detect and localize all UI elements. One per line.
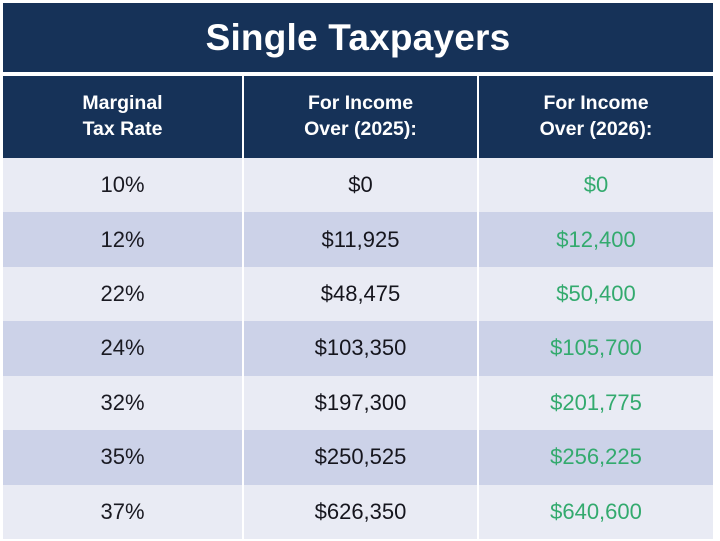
table-row: 12% $11,925 $12,400 <box>3 212 713 266</box>
cell-tax-rate: 35% <box>3 430 242 484</box>
column-header-line2: Over (2025): <box>304 117 417 143</box>
cell-income-2025: $250,525 <box>244 430 477 484</box>
cell-tax-rate: 37% <box>3 485 242 539</box>
cell-income-2026: $256,225 <box>479 430 713 484</box>
column-header-marginal-tax-rate: Marginal Tax Rate <box>3 76 242 158</box>
cell-tax-rate: 10% <box>3 158 242 212</box>
cell-income-2025: $48,475 <box>244 267 477 321</box>
cell-income-2025: $626,350 <box>244 485 477 539</box>
column-header-line2: Over (2026): <box>540 117 653 143</box>
column-header-line1: Marginal <box>82 91 162 117</box>
table-row: 32% $197,300 $201,775 <box>3 376 713 430</box>
cell-income-2026: $105,700 <box>479 321 713 375</box>
table-row: 10% $0 $0 <box>3 158 713 212</box>
table-column-header-row: Marginal Tax Rate For Income Over (2025)… <box>3 76 713 158</box>
cell-income-2026: $0 <box>479 158 713 212</box>
column-header-line1: For Income <box>304 91 417 117</box>
column-header-line1: For Income <box>540 91 653 117</box>
table-row: 22% $48,475 $50,400 <box>3 267 713 321</box>
table-row: 35% $250,525 $256,225 <box>3 430 713 484</box>
cell-income-2026: $50,400 <box>479 267 713 321</box>
cell-income-2025: $0 <box>244 158 477 212</box>
cell-tax-rate: 24% <box>3 321 242 375</box>
table-title-band: Single Taxpayers <box>3 3 713 72</box>
cell-income-2025: $11,925 <box>244 212 477 266</box>
tax-bracket-table: Single Taxpayers Marginal Tax Rate For I… <box>3 3 713 539</box>
cell-tax-rate: 32% <box>3 376 242 430</box>
cell-tax-rate: 12% <box>3 212 242 266</box>
page-title: Single Taxpayers <box>206 19 511 56</box>
column-header-income-over-2026: For Income Over (2026): <box>479 76 713 158</box>
table-body: 10% $0 $0 12% $11,925 $12,400 22% $48,47… <box>3 158 713 539</box>
cell-income-2025: $103,350 <box>244 321 477 375</box>
cell-income-2026: $12,400 <box>479 212 713 266</box>
cell-income-2025: $197,300 <box>244 376 477 430</box>
cell-tax-rate: 22% <box>3 267 242 321</box>
column-header-line2: Tax Rate <box>82 117 162 143</box>
table-row: 24% $103,350 $105,700 <box>3 321 713 375</box>
table-row: 37% $626,350 $640,600 <box>3 485 713 539</box>
column-header-income-over-2025: For Income Over (2025): <box>244 76 477 158</box>
cell-income-2026: $201,775 <box>479 376 713 430</box>
cell-income-2026: $640,600 <box>479 485 713 539</box>
